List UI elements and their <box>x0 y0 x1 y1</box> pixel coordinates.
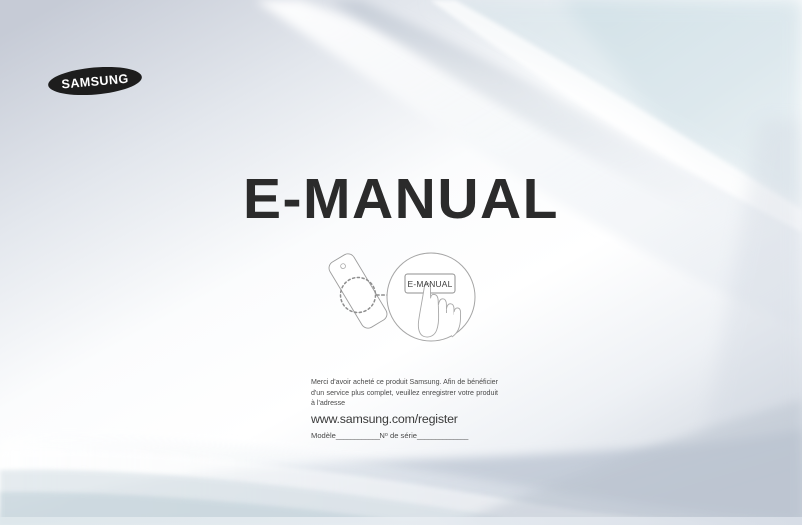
tv-remote-icon <box>326 251 389 331</box>
serial-label-rest: de série <box>388 431 417 440</box>
e-manual-button-label: E-MANUAL <box>408 279 453 289</box>
register-fields: Modèle____________No de série___________… <box>311 430 498 441</box>
register-paragraph: Merci d'avoir acheté ce produit Samsung.… <box>311 377 498 409</box>
model-rule: ____________ <box>336 431 379 440</box>
e-manual-cover-page: SAMSUNG E-MANUAL <box>0 0 802 525</box>
model-label: Modèle <box>311 431 336 440</box>
serial-rule: ______________ <box>417 431 468 440</box>
page-title: E-MANUAL <box>0 168 802 230</box>
register-text-block: Merci d'avoir acheté ce produit Samsung.… <box>311 377 498 441</box>
register-url: www.samsung.com/register <box>311 412 498 427</box>
samsung-logo: SAMSUNG <box>44 62 146 100</box>
remote-magnifier-illustration: E-MANUAL <box>318 243 484 355</box>
